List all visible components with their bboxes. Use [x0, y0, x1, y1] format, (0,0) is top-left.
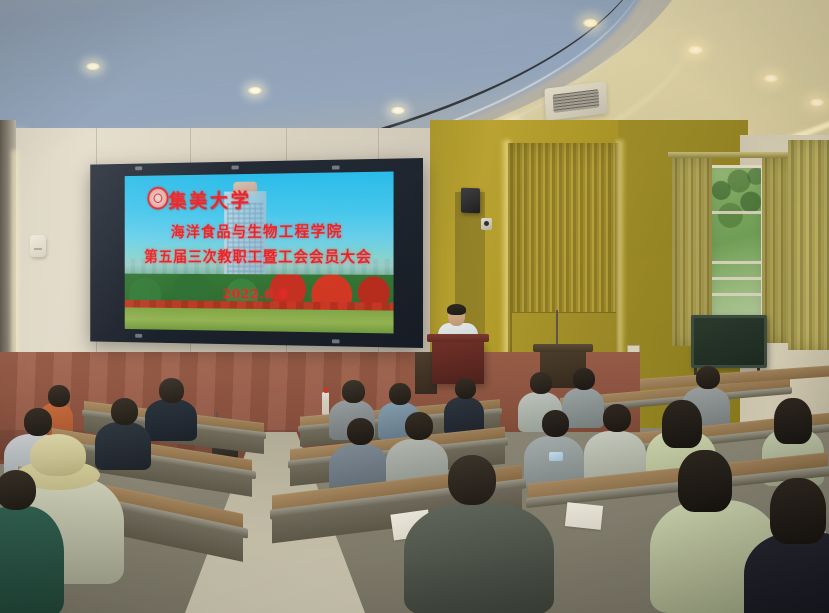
attendee-head: [389, 383, 411, 405]
led-screen[interactable]: 集美大学 海洋食品与生物工程学院 第五届三次教职工暨工会会员大会 2022.6.…: [90, 158, 423, 348]
mobile-phone: [549, 452, 563, 461]
downlight: [763, 74, 779, 83]
microphone-stand-icon: [556, 310, 558, 346]
slide-date: 2022.6.8: [125, 287, 394, 304]
attendee-head: [405, 412, 433, 440]
downlight: [85, 62, 101, 71]
attendee-hair: [770, 478, 826, 544]
slide-organization-title: 集美大学: [169, 185, 252, 214]
speaker-hair: [447, 304, 466, 315]
attendee-head: [111, 398, 138, 425]
water-bottle: [322, 392, 329, 415]
downlight: [247, 86, 263, 95]
slide-lawn: [125, 307, 394, 333]
window: [709, 165, 764, 320]
podium: [432, 340, 484, 384]
downlight: [809, 98, 825, 107]
attendee-head: [347, 418, 374, 445]
downlight: [582, 18, 599, 28]
attendee-head: [573, 368, 595, 390]
podium-top: [427, 334, 489, 342]
bucket-hat: [30, 434, 86, 476]
attendee-head: [530, 372, 552, 394]
attendee-hair: [662, 400, 702, 448]
attendee-head: [455, 378, 476, 399]
lecture-hall-photo: 集美大学 海洋食品与生物工程学院 第五届三次教职工暨工会会员大会 2022.6.…: [0, 0, 829, 613]
screen-mount-tab: [332, 339, 340, 343]
slat-panel-glow-right: [617, 140, 626, 362]
attendee-body: [0, 506, 64, 613]
attendee-head: [24, 408, 52, 436]
attendee-head: [342, 380, 365, 403]
screen-mount-tab: [135, 166, 142, 170]
downlight: [687, 45, 704, 55]
downlight: [390, 106, 406, 115]
attendee-head: [542, 410, 569, 437]
wall-speaker-icon: [461, 188, 480, 214]
screen-mount-tab: [332, 166, 340, 170]
attendee-head: [0, 470, 36, 510]
slide-line-2: 第五届三次教职工暨工会会员大会: [125, 245, 394, 267]
screen-mount-tab: [135, 334, 142, 338]
paper-document: [565, 502, 603, 530]
attendee-body: [404, 503, 554, 613]
jimei-university-seal-icon: [147, 187, 168, 210]
attendee-body: [95, 422, 151, 470]
attendee-head: [696, 366, 720, 389]
curtain[interactable]: [788, 140, 829, 350]
security-camera-icon: [481, 218, 492, 230]
attendee-hair: [678, 450, 732, 512]
attendee-head: [448, 455, 496, 505]
wall-mounted-device-icon: [30, 235, 46, 257]
slide-content: 集美大学 海洋食品与生物工程学院 第五届三次教职工暨工会会员大会 2022.6.…: [125, 172, 394, 334]
second-podium-top: [533, 344, 593, 352]
attendee-head: [603, 404, 631, 432]
attendee-head: [159, 378, 184, 403]
attendee-hair: [774, 398, 812, 444]
attendee-body: [145, 399, 197, 441]
screen-mount-tab: [231, 165, 238, 169]
blackboard: [691, 315, 767, 368]
attendee-head: [48, 385, 70, 407]
slide-line-1: 海洋食品与生物工程学院: [125, 219, 394, 242]
